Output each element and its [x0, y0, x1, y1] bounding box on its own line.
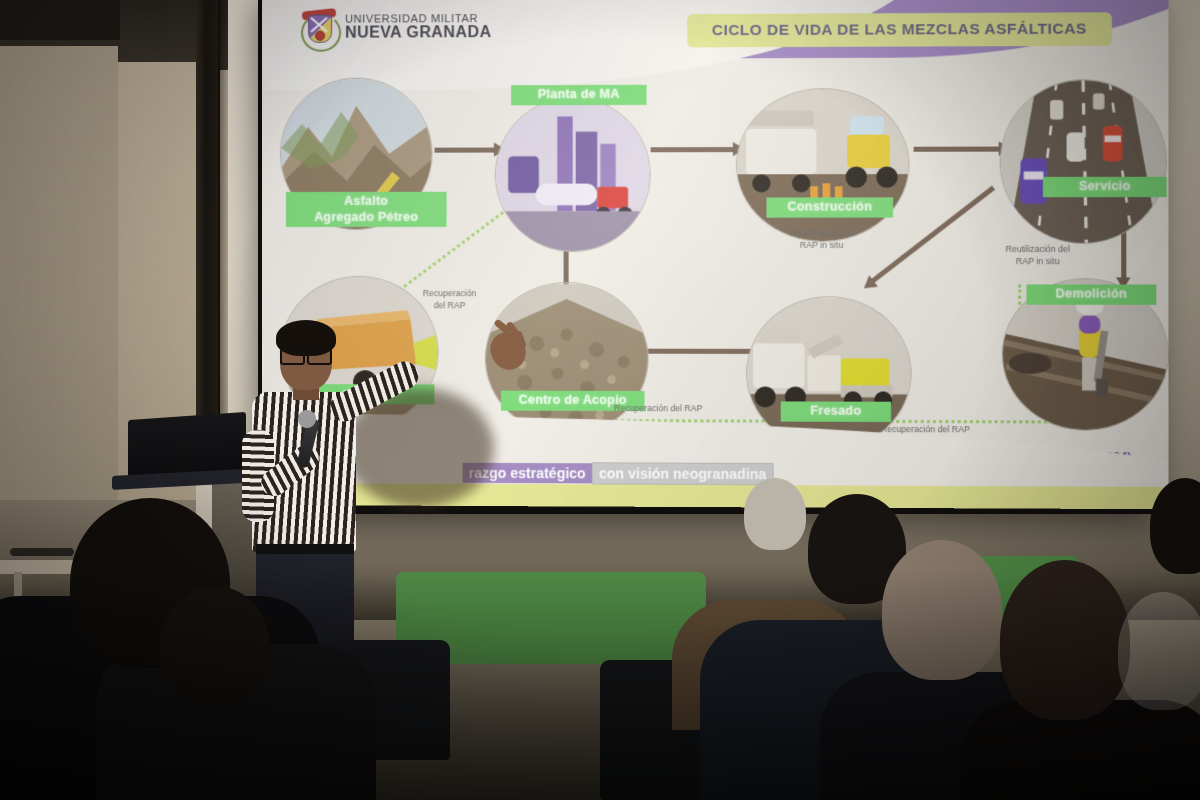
column-shadow	[218, 0, 228, 420]
laser-pointer	[10, 548, 74, 556]
highway-traffic-icon	[1000, 79, 1167, 244]
annotation-reutil-derecha: Reutilización del RAP in situ	[971, 244, 1105, 268]
annotation-recup-abajo-1: Recuperación del RAP	[614, 403, 777, 415]
university-crest-icon	[300, 8, 338, 50]
node-construccion[interactable]: Construcción	[736, 88, 910, 242]
wall-left-panel	[0, 46, 118, 516]
node-construccion-label: Construcción	[767, 197, 894, 217]
construccion-art	[737, 89, 908, 241]
university-logo: UNIVERSIDAD MILITAR NUEVA GRANADA	[300, 7, 492, 50]
annotation-reutil-centro: Reutilización del RAP in situ	[758, 228, 885, 251]
arrow-construccion-to-servicio	[914, 147, 1000, 152]
microphone-head	[298, 410, 316, 428]
logo-line-2: NUEVA GRANADA	[345, 25, 491, 42]
annotation-recup-izq: Recuperación del RAP	[392, 288, 507, 311]
node-servicio-label: Servicio	[1043, 177, 1167, 197]
node-servicio[interactable]: Servicio	[1000, 79, 1167, 244]
footer-rest: con visión neogranadina	[592, 462, 774, 485]
node-fresado-label: Fresado	[781, 401, 891, 421]
arrow-fresado-to-acopio	[632, 349, 754, 354]
arrow-asfalto-to-planta	[434, 148, 494, 153]
node-demolicion-label: Demolición	[1026, 284, 1156, 304]
arrow-planta-to-construccion	[651, 147, 734, 152]
lecture-room-photo: UNIVERSIDAD MILITAR NUEVA GRANADA CICLO …	[0, 0, 1200, 800]
audience-head-2	[160, 586, 270, 706]
ceiling-recess	[0, 0, 120, 40]
audience-head-5	[882, 540, 1002, 680]
node-asfalto-label: Asfalto Agregado Pétreo	[286, 192, 447, 227]
audience-head-8	[1118, 592, 1200, 710]
node-planta[interactable]: Planta de MA	[495, 97, 651, 252]
slide-title: CICLO DE VIDA DE LAS MEZCLAS ASFÁLTICAS	[712, 20, 1087, 39]
eyeglasses-icon	[280, 348, 332, 361]
audience-head-6	[1000, 560, 1130, 720]
servicio-art	[1001, 80, 1166, 243]
audience-head-3	[744, 478, 806, 550]
slide-title-band: CICLO DE VIDA DE LAS MEZCLAS ASFÁLTICAS	[687, 12, 1112, 47]
structural-column	[196, 0, 220, 418]
slide-footer-text: razgo estratégico con visión neogranadin…	[463, 462, 774, 485]
node-demolicion[interactable]: Demolición	[1002, 278, 1169, 431]
asphalt-plant-icon	[495, 97, 651, 252]
presenter-belt	[256, 544, 354, 554]
node-asfalto[interactable]: Asfalto Agregado Pétreo	[280, 77, 432, 230]
plant-art	[496, 98, 650, 251]
paving-construction-icon	[736, 88, 910, 242]
node-planta-label: Planta de MA	[511, 85, 647, 105]
